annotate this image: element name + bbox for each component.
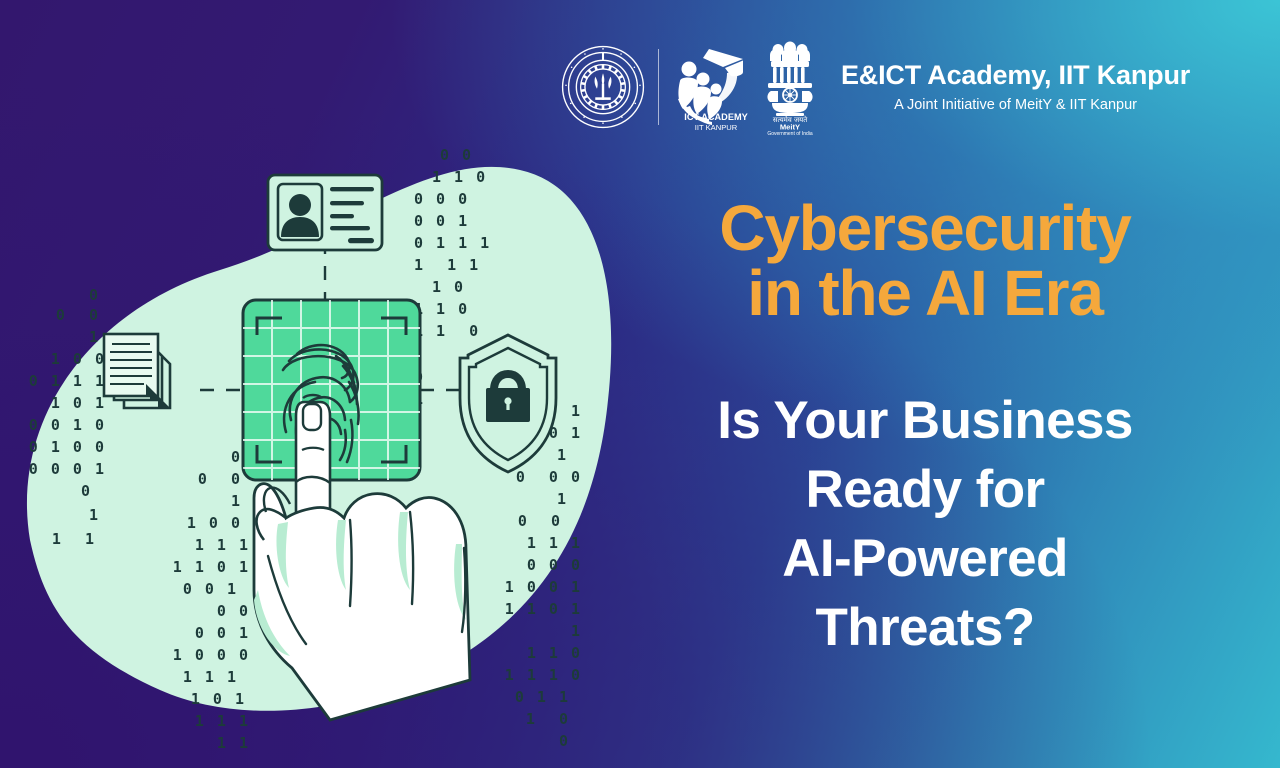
svg-text:0 0 1 0: 0 0 1 0 xyxy=(29,416,106,434)
svg-text:1 0 0: 1 0 0 xyxy=(187,514,242,532)
hero-illustration: 0 0 1 1 0 0 0 0 0 0 1 0 1 1 1 1 1 1 1 0 … xyxy=(0,120,640,768)
svg-text:1 1: 1 1 xyxy=(217,734,250,752)
svg-text:1 0 0 1: 1 0 0 1 xyxy=(505,578,582,596)
svg-text:1 1 1: 1 1 1 xyxy=(195,712,250,730)
svg-text:1 1 0 1: 1 1 0 1 xyxy=(505,600,582,618)
svg-text:1 1 1: 1 1 1 xyxy=(414,256,480,274)
header-divider xyxy=(658,49,659,125)
svg-text:0 1 1 1: 0 1 1 1 xyxy=(29,372,106,390)
page-subtitle: Is Your Business Ready for AI-Powered Th… xyxy=(645,387,1205,663)
header-text-block: E&ICT Academy, IIT Kanpur A Joint Initia… xyxy=(841,61,1190,113)
svg-text:0 0 1: 0 0 1 xyxy=(414,212,469,230)
svg-text:0 0 1: 0 0 1 xyxy=(195,624,250,642)
svg-text:1 0: 1 0 xyxy=(432,278,465,296)
svg-text:1 0 0 0: 1 0 0 0 xyxy=(173,646,250,664)
svg-text:1 1 0: 1 1 0 xyxy=(414,300,469,318)
svg-text:1 0 1: 1 0 1 xyxy=(51,394,106,412)
iit-kanpur-seal-icon xyxy=(560,44,646,130)
svg-text:1 1 1: 1 1 1 xyxy=(195,536,250,554)
svg-text:0 0 0: 0 0 0 xyxy=(527,556,582,574)
svg-text:1 1 0: 1 1 0 xyxy=(527,644,582,662)
svg-text:0 0 0: 0 0 0 xyxy=(414,190,469,208)
ict-academy-sublabel: IIT KANPUR xyxy=(695,123,738,132)
svg-text:1 1 0: 1 1 0 xyxy=(414,322,480,340)
brand-title: E&ICT Academy, IIT Kanpur xyxy=(841,61,1190,91)
svg-text:1: 1 xyxy=(231,492,242,510)
svg-text:0 1: 0 1 xyxy=(549,424,582,442)
svg-text:0 1 1 1: 0 1 1 1 xyxy=(414,234,491,252)
svg-text:0 1 1: 0 1 1 xyxy=(515,688,570,706)
svg-text:1 1: 1 1 xyxy=(52,530,96,548)
svg-text:1: 1 xyxy=(557,490,568,508)
subhead-line-1: Is Your Business xyxy=(645,387,1205,456)
subhead-line-4: Threats? xyxy=(645,594,1205,663)
subhead-line-2: Ready for xyxy=(645,456,1205,525)
id-card-icon xyxy=(268,175,382,250)
brand-header: ICT ACADEMY IIT KANPUR xyxy=(560,34,1240,140)
svg-text:1 0 1: 1 0 1 xyxy=(191,690,246,708)
meity-emblem-icon: सत्यमेव जयते MeitY Government of India xyxy=(759,39,821,135)
ict-academy-label: ICT ACADEMY xyxy=(684,112,747,122)
svg-text:1: 1 xyxy=(557,446,568,464)
svg-text:0 0: 0 0 xyxy=(518,512,562,530)
headline-line-2: in the AI Era xyxy=(645,261,1205,326)
svg-text:0: 0 xyxy=(81,482,92,500)
svg-text:1: 1 xyxy=(89,328,100,346)
svg-text:1 1 1: 1 1 1 xyxy=(183,668,238,686)
svg-text:0 0 1: 0 0 1 xyxy=(183,580,238,598)
svg-text:1: 1 xyxy=(571,622,582,640)
svg-text:0: 0 xyxy=(559,732,570,750)
fingerprint-scanner[interactable] xyxy=(243,300,420,480)
svg-text:0: 0 xyxy=(231,448,242,466)
page-title: Cybersecurity in the AI Era xyxy=(645,196,1205,327)
subhead-line-3: AI-Powered xyxy=(645,525,1205,594)
svg-text:1 0 0: 1 0 0 xyxy=(51,350,106,368)
svg-text:1 0: 1 0 xyxy=(526,710,570,728)
svg-text:0 0 0 1: 0 0 0 1 xyxy=(29,460,106,478)
svg-text:0 0: 0 0 xyxy=(440,146,473,164)
svg-text:1 1 0 1: 1 1 0 1 xyxy=(173,558,250,576)
svg-text:1 1 0: 1 1 0 xyxy=(432,168,487,186)
svg-text:1 1 1: 1 1 1 xyxy=(527,534,582,552)
ict-academy-logo-icon: ICT ACADEMY IIT KANPUR xyxy=(673,41,751,133)
poster-canvas: ICT ACADEMY IIT KANPUR xyxy=(0,0,1280,768)
meity-govt-label: Government of India xyxy=(767,131,813,135)
fingernail xyxy=(303,404,321,430)
brand-subtitle: A Joint Initiative of MeitY & IIT Kanpur xyxy=(841,97,1190,113)
svg-text:0 1 0 0: 0 1 0 0 xyxy=(29,438,106,456)
svg-text:0: 0 xyxy=(89,286,100,304)
headline-line-1: Cybersecurity xyxy=(719,192,1130,264)
svg-text:0 0: 0 0 xyxy=(217,602,250,620)
svg-text:1: 1 xyxy=(89,506,100,524)
svg-text:1 1 1 0: 1 1 1 0 xyxy=(505,666,582,684)
svg-text:0 0: 0 0 xyxy=(198,470,242,488)
svg-text:0 0 0: 0 0 0 xyxy=(516,468,582,486)
svg-text:1: 1 xyxy=(571,402,582,420)
svg-text:0 0: 0 0 xyxy=(56,306,100,324)
